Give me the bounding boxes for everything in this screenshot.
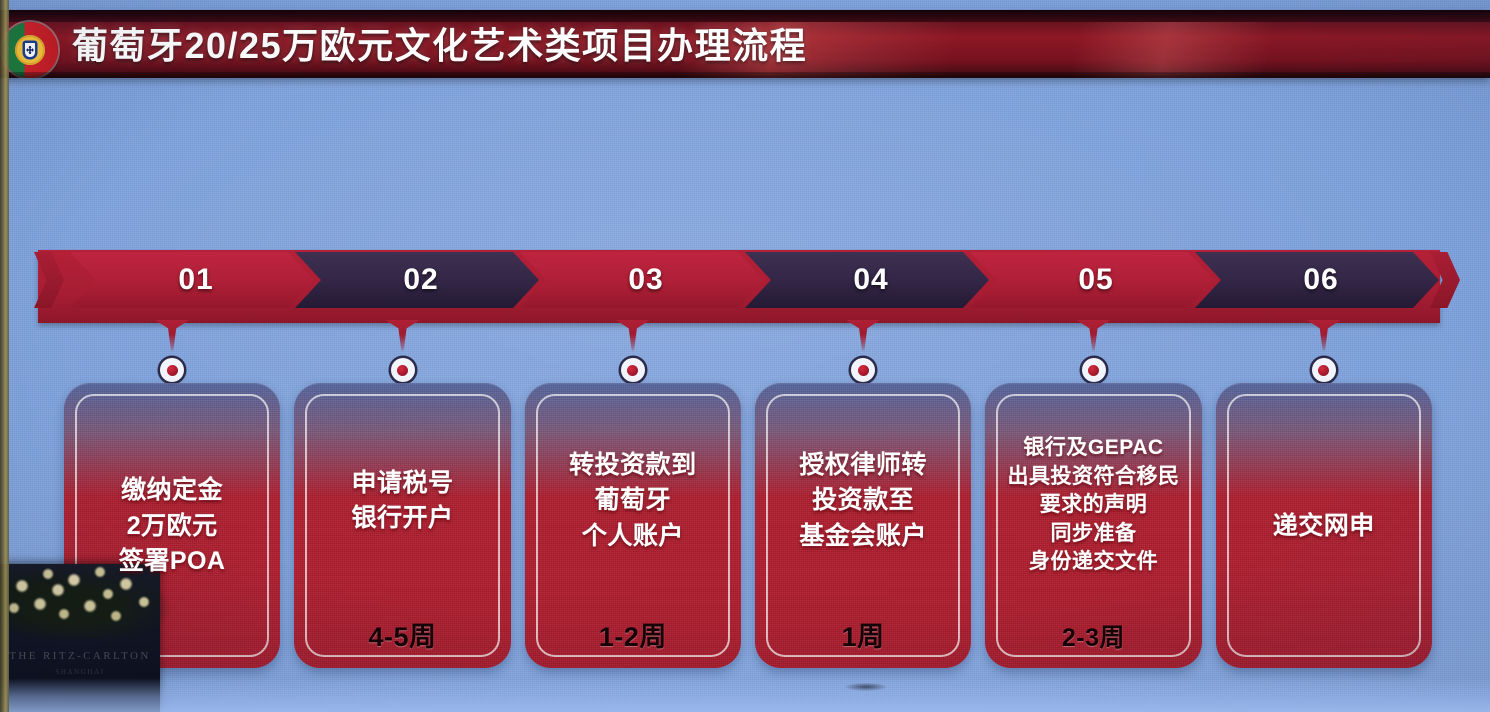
card-text-line: 个人账户 bbox=[582, 519, 684, 555]
card-duration-label: 1-2周 bbox=[599, 615, 667, 654]
card-text-block: 转投资款到葡萄牙个人账户 bbox=[535, 399, 731, 603]
card-text-line: 出具投资符合移民 bbox=[1007, 463, 1179, 492]
card-text-line: 2万欧元 bbox=[127, 509, 218, 545]
card-text-block: 银行及GEPAC出具投资符合移民要求的声明同步准备身份递交文件 bbox=[995, 399, 1191, 612]
timeline-step-01[interactable]: 01 bbox=[70, 252, 314, 308]
slide-header-bar: 葡萄牙20/25万欧元文化艺术类项目办理流程 bbox=[0, 10, 1490, 78]
card-duration-label: 2-3周 bbox=[1062, 618, 1125, 654]
card-text-line: 银行开户 bbox=[351, 501, 453, 537]
timeline-marker-center bbox=[167, 365, 178, 376]
timeline-step-03[interactable]: 03 bbox=[520, 252, 764, 308]
card-text-block: 缴纳定金2万欧元签署POA bbox=[74, 399, 270, 654]
page-title: 葡萄牙20/25万欧元文化艺术类项目办理流程 bbox=[72, 17, 807, 69]
timeline-step-list: 010203040506 bbox=[70, 252, 1420, 308]
timeline-marker-center bbox=[858, 365, 869, 376]
card-text-block: 递交网申 bbox=[1226, 399, 1422, 654]
card-03[interactable]: 转投资款到葡萄牙个人账户1-2周 bbox=[525, 383, 741, 668]
timeline-marker-dot bbox=[1312, 358, 1336, 382]
slide-stage: 葡萄牙20/25万欧元文化艺术类项目办理流程 010203040506 缴纳定金… bbox=[0, 0, 1490, 712]
card-02[interactable]: 申请税号银行开户4-5周 bbox=[294, 383, 510, 668]
card-text-line: 要求的声明 bbox=[1040, 491, 1148, 520]
card-text-line: 同步准备 bbox=[1050, 520, 1136, 549]
emblem-shield-dots bbox=[27, 46, 34, 55]
card-06[interactable]: 递交网申 bbox=[1216, 383, 1432, 668]
timeline-step-number: 05 bbox=[1078, 263, 1113, 297]
timeline-marker-center bbox=[627, 365, 638, 376]
card-text-line: 授权律师转 bbox=[799, 448, 927, 484]
podium-brand-sublabel: SHANGHAI bbox=[55, 668, 104, 676]
screen-smudge bbox=[845, 683, 887, 691]
portugal-flag-emblem-icon bbox=[2, 22, 58, 78]
card-text-line: 签署POA bbox=[119, 544, 226, 580]
card-text-line: 葡萄牙 bbox=[595, 483, 672, 519]
timeline-step-number: 03 bbox=[628, 263, 663, 297]
timeline-marker-center bbox=[1088, 365, 1099, 376]
timeline-step-06[interactable]: 06 bbox=[1195, 252, 1439, 308]
card-text-line: 身份递交文件 bbox=[1029, 548, 1158, 577]
card-duration-label: 1周 bbox=[842, 615, 885, 654]
card-text-block: 授权律师转投资款至基金会账户 bbox=[765, 399, 961, 603]
card-text-line: 投资款至 bbox=[812, 483, 914, 519]
timeline-step-02[interactable]: 02 bbox=[295, 252, 539, 308]
card-text-line: 转投资款到 bbox=[569, 448, 697, 484]
timeline-step-05[interactable]: 05 bbox=[970, 252, 1214, 308]
card-01[interactable]: 缴纳定金2万欧元签署POA bbox=[64, 383, 280, 668]
card-text-line: 申请税号 bbox=[351, 466, 453, 502]
screen-left-frame bbox=[0, 0, 9, 712]
card-05[interactable]: 银行及GEPAC出具投资符合移民要求的声明同步准备身份递交文件2-3周 bbox=[985, 383, 1201, 668]
timeline-marker-dot bbox=[391, 358, 415, 382]
card-text-line: 递交网申 bbox=[1273, 509, 1375, 545]
timeline-marker-dot bbox=[1082, 358, 1106, 382]
card-text-line: 银行及GEPAC bbox=[1023, 434, 1163, 463]
timeline-marker-dot bbox=[851, 358, 875, 382]
timeline-step-04[interactable]: 04 bbox=[745, 252, 989, 308]
card-text-block: 申请税号银行开户 bbox=[304, 399, 500, 603]
timeline-marker-center bbox=[1318, 365, 1329, 376]
timeline-step-number: 01 bbox=[178, 263, 213, 297]
timeline-marker-dot bbox=[621, 358, 645, 382]
timeline-marker-dot bbox=[160, 358, 184, 382]
timeline-strip: 010203040506 bbox=[34, 250, 1458, 332]
timeline-marker-center bbox=[397, 365, 408, 376]
step-card-list: 缴纳定金2万欧元签署POA申请税号银行开户4-5周转投资款到葡萄牙个人账户1-2… bbox=[64, 383, 1432, 668]
card-04[interactable]: 授权律师转投资款至基金会账户1周 bbox=[755, 383, 971, 668]
card-text-line: 缴纳定金 bbox=[121, 473, 223, 509]
card-duration-label: 4-5周 bbox=[368, 615, 436, 654]
timeline-step-number: 06 bbox=[1303, 263, 1338, 297]
card-text-line: 基金会账户 bbox=[799, 519, 927, 555]
timeline-step-number: 04 bbox=[853, 263, 888, 297]
timeline-step-number: 02 bbox=[403, 263, 438, 297]
